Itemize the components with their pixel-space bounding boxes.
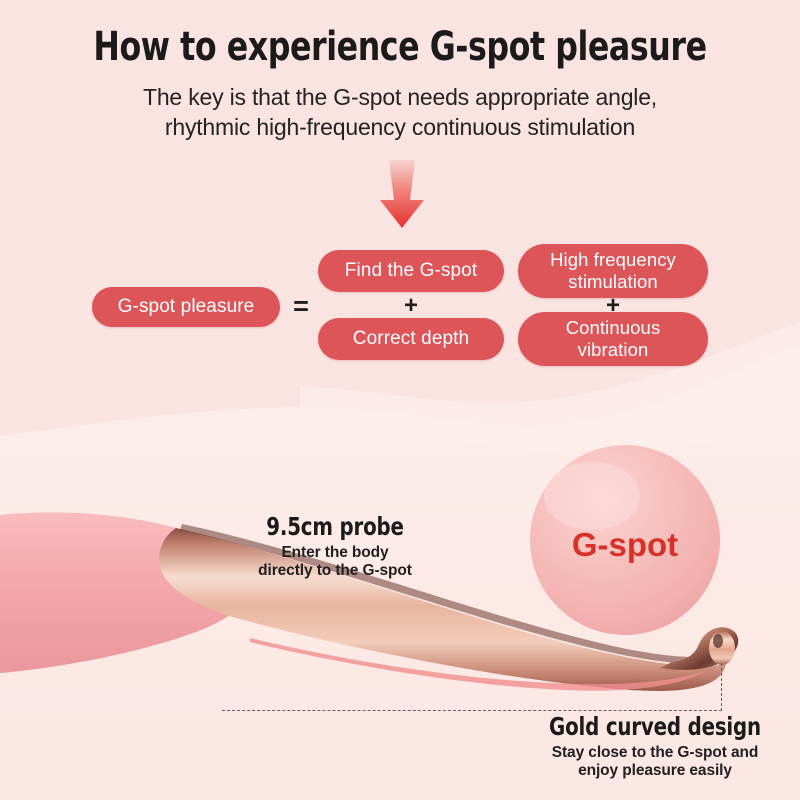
equals-symbol: = — [288, 290, 314, 322]
gspot-ball-label: G-spot — [540, 526, 710, 564]
infographic-canvas: How to experience G-spot pleasure The ke… — [0, 0, 800, 800]
plus-symbol-column-1: + — [398, 292, 424, 320]
callout-probe: 9.5cm probe Enter the body directly to t… — [210, 512, 460, 580]
pill-high-frequency-line-2: stimulation — [550, 271, 676, 293]
callout-gold-design: Gold curved design Stay close to the G-s… — [510, 712, 800, 780]
dashed-baseline — [222, 710, 722, 711]
formula-group: G-spot pleasure = Find the G-spot + Corr… — [0, 240, 800, 370]
page-subtitle: The key is that the G-spot needs appropr… — [0, 82, 800, 142]
callout-probe-line-2: directly to the G-spot — [210, 562, 460, 580]
callout-gold-line-1: Stay close to the G-spot and — [510, 744, 800, 762]
pill-high-frequency-stimulation[interactable]: High frequency stimulation — [518, 244, 708, 298]
callout-probe-description: Enter the body directly to the G-spot — [210, 544, 460, 580]
callout-gold-heading: Gold curved design — [527, 712, 782, 741]
pill-high-frequency-line-1: High frequency — [550, 249, 676, 271]
pill-correct-depth[interactable]: Correct depth — [318, 318, 504, 360]
page-subtitle-line-1: The key is that the G-spot needs appropr… — [0, 82, 800, 112]
down-arrow-icon — [372, 160, 432, 230]
callout-gold-description: Stay close to the G-spot and enjoy pleas… — [510, 744, 800, 780]
page-title: How to experience G-spot pleasure — [48, 24, 752, 70]
pill-result-gspot-pleasure[interactable]: G-spot pleasure — [92, 287, 280, 327]
callout-gold-line-2: enjoy pleasure easily — [510, 762, 800, 780]
callout-probe-line-1: Enter the body — [210, 544, 460, 562]
callout-probe-heading: 9.5cm probe — [225, 512, 445, 541]
pill-continuous-line-2: vibration — [566, 339, 661, 361]
down-arrow — [372, 160, 432, 230]
pill-find-the-gspot[interactable]: Find the G-spot — [318, 250, 504, 292]
page-subtitle-line-2: rhythmic high-frequency continuous stimu… — [0, 112, 800, 142]
dashed-tip-line — [721, 663, 722, 711]
pill-continuous-line-1: Continuous — [566, 317, 661, 339]
pill-continuous-vibration[interactable]: Continuous vibration — [518, 312, 708, 366]
